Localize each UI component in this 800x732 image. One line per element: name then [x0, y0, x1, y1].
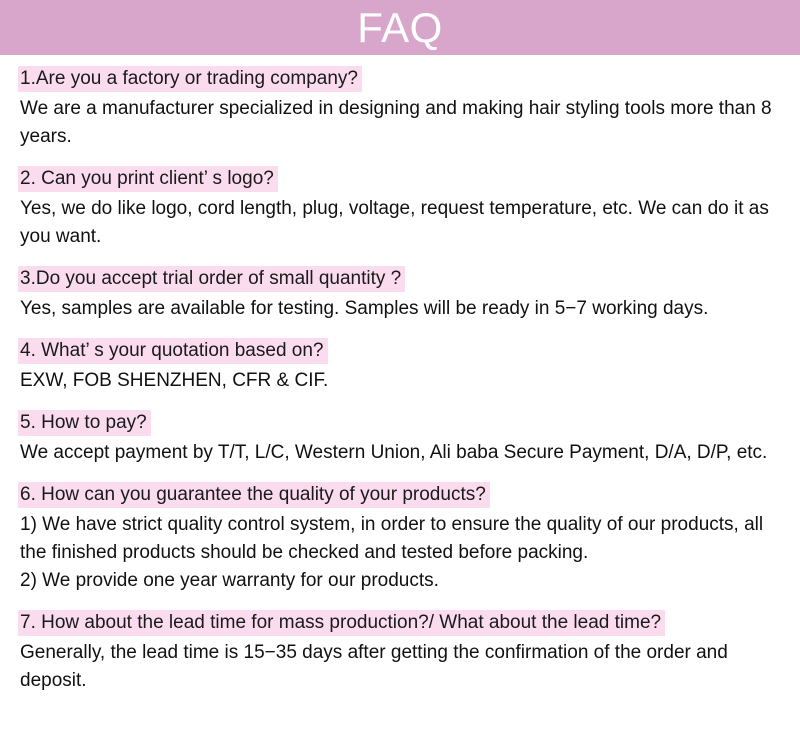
faq-question-line-3: 3.Do you accept trial order of small qua… — [18, 265, 780, 294]
page-title: FAQ — [357, 7, 443, 49]
faq-question-5[interactable]: 5. How to pay? — [18, 410, 151, 436]
faq-answer-3: Yes, samples are available for testing. … — [18, 295, 780, 323]
faq-answer-6: 1) We have strict quality control system… — [18, 511, 780, 595]
faq-page: FAQ 1.Are you a factory or trading compa… — [0, 0, 800, 732]
faq-question-line-7: 7. How about the lead time for mass prod… — [18, 609, 780, 638]
faq-question-3[interactable]: 3.Do you accept trial order of small qua… — [18, 266, 405, 292]
faq-item-3: 3.Do you accept trial order of small qua… — [18, 265, 780, 323]
faq-item-5: 5. How to pay? We accept payment by T/T,… — [18, 409, 780, 467]
faq-question-4[interactable]: 4. What’ s your quotation based on? — [18, 338, 328, 364]
faq-banner: FAQ — [0, 0, 800, 55]
faq-item-4: 4. What’ s your quotation based on? EXW,… — [18, 337, 780, 395]
faq-answer-2: Yes, we do like logo, cord length, plug,… — [18, 195, 780, 251]
faq-item-7: 7. How about the lead time for mass prod… — [18, 609, 780, 695]
faq-question-2[interactable]: 2. Can you print client’ s logo? — [18, 166, 278, 192]
faq-question-line-4: 4. What’ s your quotation based on? — [18, 337, 780, 366]
faq-question-line-1: 1.Are you a factory or trading company? — [18, 65, 780, 94]
faq-answer-6-line-1: 1) We have strict quality control system… — [20, 511, 780, 567]
faq-list: 1.Are you a factory or trading company? … — [0, 55, 800, 695]
faq-question-7[interactable]: 7. How about the lead time for mass prod… — [18, 610, 665, 636]
faq-question-line-2: 2. Can you print client’ s logo? — [18, 165, 780, 194]
faq-answer-5: We accept payment by T/T, L/C, Western U… — [18, 439, 780, 467]
faq-item-2: 2. Can you print client’ s logo? Yes, we… — [18, 165, 780, 251]
faq-answer-4: EXW, FOB SHENZHEN, CFR & CIF. — [18, 367, 780, 395]
faq-question-6[interactable]: 6. How can you guarantee the quality of … — [18, 482, 490, 508]
faq-item-6: 6. How can you guarantee the quality of … — [18, 481, 780, 595]
faq-answer-6-line-2: 2) We provide one year warranty for our … — [20, 567, 780, 595]
faq-question-1[interactable]: 1.Are you a factory or trading company? — [18, 66, 362, 92]
faq-question-line-5: 5. How to pay? — [18, 409, 780, 438]
faq-answer-7: Generally, the lead time is 15−35 days a… — [18, 639, 780, 695]
faq-answer-1: We are a manufacturer specialized in des… — [18, 95, 780, 151]
faq-question-line-6: 6. How can you guarantee the quality of … — [18, 481, 780, 510]
faq-item-1: 1.Are you a factory or trading company? … — [18, 65, 780, 151]
